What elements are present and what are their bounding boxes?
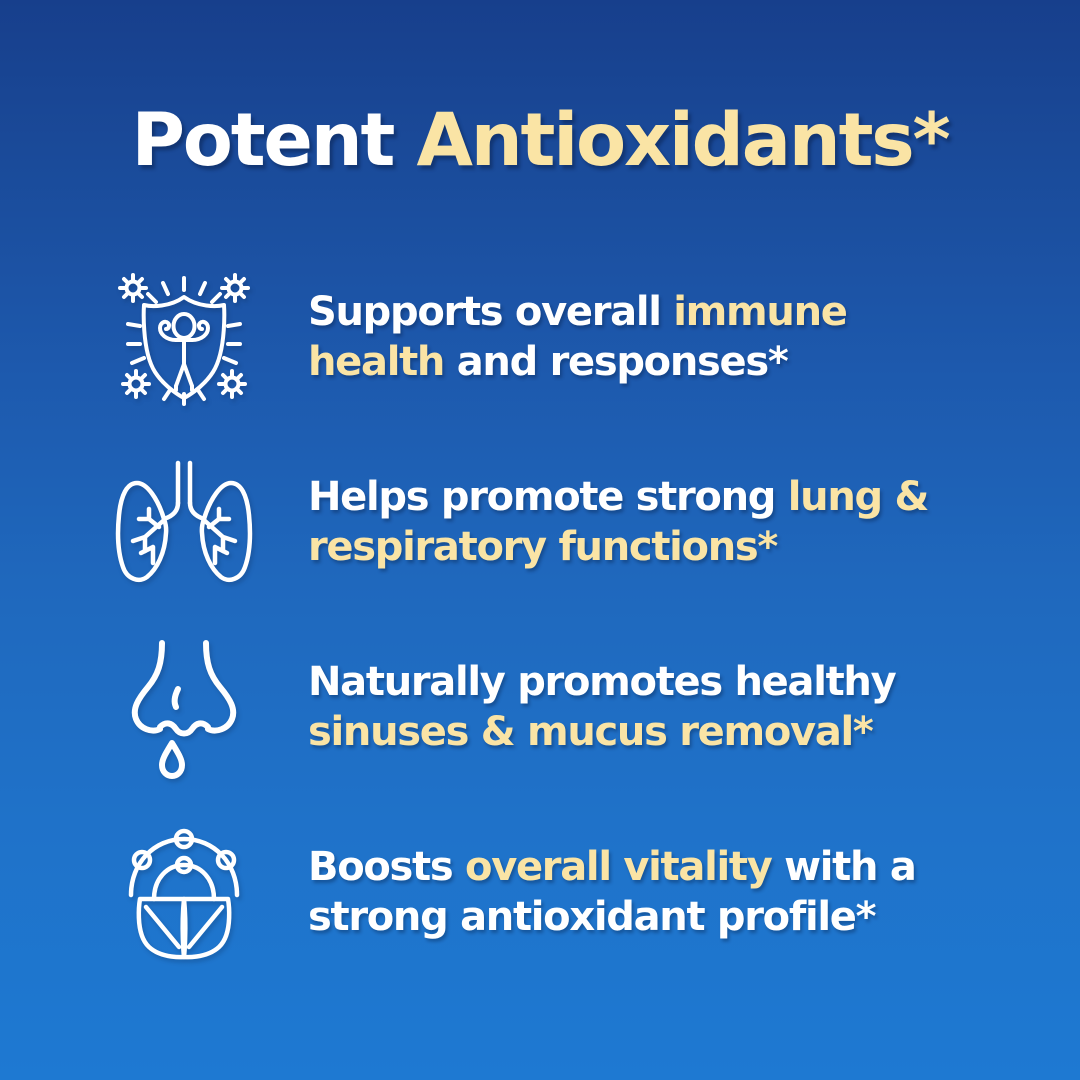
list-item: Supports overall immune health and respo… [0,262,1080,414]
feature-text: Helps promote strong lung & respiratory … [272,473,988,572]
feature-1-line2-accent: health [308,339,444,385]
feature-text: Boosts overall vitality with a strong an… [272,843,998,942]
feature-list: Supports overall immune health and respo… [0,262,1080,969]
title-white-part: Potent [131,98,416,183]
lungs-icon [96,447,272,599]
feature-1-line1-accent: immune [673,289,846,335]
feature-1-line2-plain: and responses* [444,339,787,385]
feature-3-line1-plain: Naturally promotes healthy [308,659,895,705]
feature-text: Naturally promotes healthy sinuses & muc… [272,658,1008,757]
nose-drip-icon [96,632,272,784]
list-item: Helps promote strong lung & respiratory … [0,447,1080,599]
shield-person-germs-icon [96,262,272,414]
feature-1-line1-plain: Supports overall [308,289,673,335]
leaves-molecule-icon [96,817,272,969]
page-title: Potent Antioxidants* [0,104,1080,178]
title-accent-part: Antioxidants* [416,98,948,183]
poster-canvas: Potent Antioxidants* [0,0,1080,1080]
list-item: Boosts overall vitality with a strong an… [0,817,1080,969]
feature-2-line1-accent: lung [788,474,882,520]
feature-3-line2-accent: sinuses & mucus removal* [308,709,873,755]
feature-4-line1-plain-end: with [771,844,877,890]
feature-4-line1-accent: overall vitality [465,844,771,890]
feature-2-line1-plain: Helps promote strong [308,474,788,520]
feature-4-line1-plain: Boosts [308,844,465,890]
list-item: Naturally promotes healthy sinuses & muc… [0,632,1080,784]
feature-text: Supports overall immune health and respo… [272,288,948,387]
